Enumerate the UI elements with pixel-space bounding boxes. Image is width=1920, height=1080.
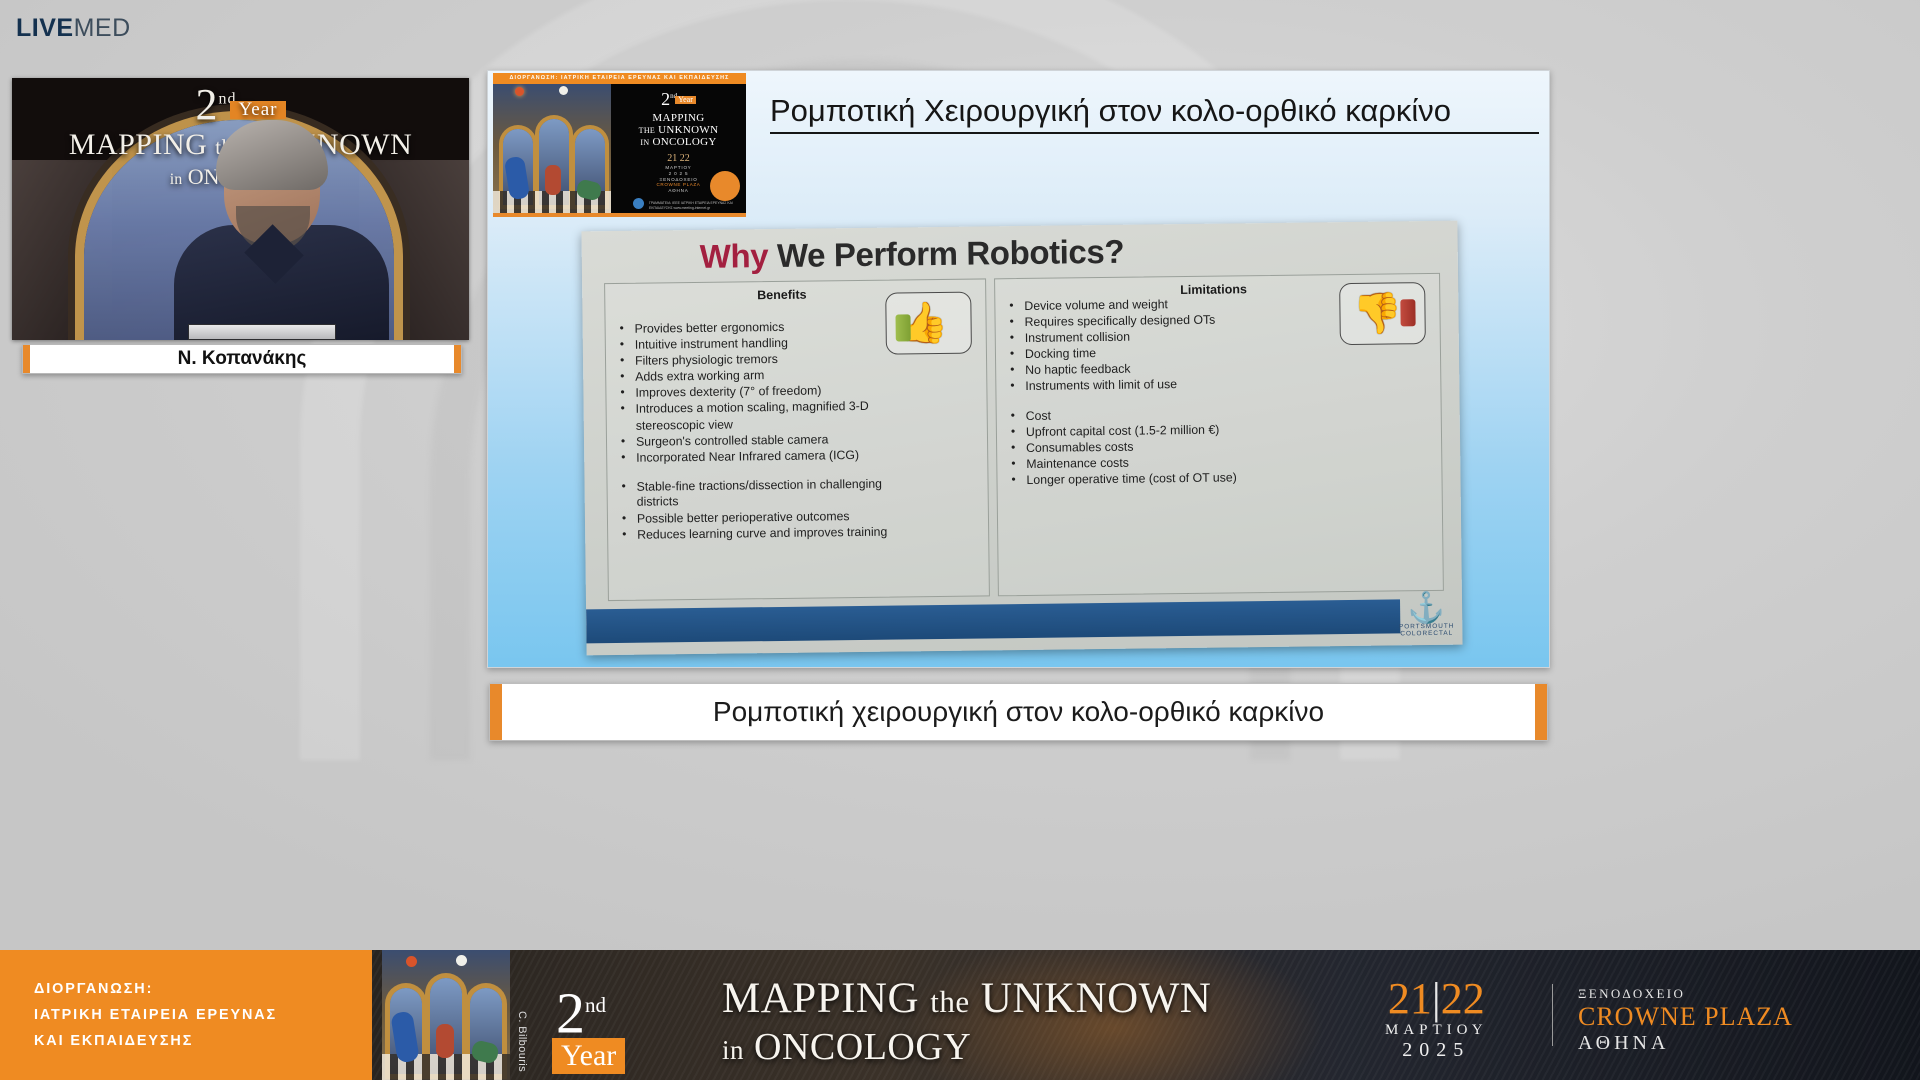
poster-line2: THE UNKNOWN: [611, 124, 746, 136]
portsmouth-colorectal-logo: ⚓ PORTSMOUTH COLORECTAL: [1399, 595, 1455, 638]
poster-organizer-bar: ΔΙΟΡΓΑΝΩΣΗ: ΙΑΤΡΙΚΗ ΕΤΑΙΡΕΙΑ ΕΡΕΥΝΑΣ ΚΑΙ…: [493, 73, 746, 84]
benefits-column: Benefits 👍 Provides better ergonomics In…: [604, 278, 990, 601]
speaker-name-plate: Ν. Κοπανάκης: [22, 344, 462, 374]
banner-year-badge: Year: [552, 1038, 625, 1074]
poster-figure-2: [545, 165, 561, 195]
portsmouth-logo-line2: COLORECTAL: [1399, 630, 1454, 638]
poster-artwork: [493, 84, 611, 213]
portsmouth-logo-mark: ⚓: [1399, 595, 1455, 624]
poster-the: THE: [639, 126, 655, 135]
banner-ordinal: 2nd: [556, 980, 625, 1038]
photo-footer-bar: [586, 599, 1400, 643]
poster-oncology: ONCOLOGY: [652, 136, 716, 148]
photographed-slide: Why We Perform Robotics? Benefits 👍 Prov…: [581, 221, 1462, 656]
banner-year: 2025: [1385, 1039, 1488, 1062]
banner-venue-name: CROWNE PLAZA: [1578, 1002, 1793, 1032]
banner-figure-2: [436, 1024, 454, 1058]
logo-live: LIVE: [16, 14, 74, 42]
presentation-slide[interactable]: ΔΙΟΡΓΑΝΩΣΗ: ΙΑΤΡΙΚΗ ΕΤΑΙΡΕΙΑ ΕΡΕΥΝΑΣ ΚΑΙ…: [487, 70, 1550, 668]
banner-oncology: ONCOLOGY: [754, 1026, 971, 1068]
poster-text-block: 2ndYear MAPPING THE UNKNOWN IN ONCOLOGY …: [611, 84, 746, 213]
banner-day2: 22: [1441, 974, 1485, 1023]
conference-poster-thumbnail: ΔΙΟΡΓΑΝΩΣΗ: ΙΑΤΡΙΚΗ ΕΤΑΙΡΕΙΑ ΕΡΕΥΝΑΣ ΚΑΙ…: [493, 73, 746, 217]
backdrop-ordinal: 2ndYear: [12, 84, 469, 126]
livemed-logo: LIVEMED: [16, 14, 131, 43]
speaker-name: Ν. Κοπανάκης: [178, 348, 307, 370]
banner-in: in: [722, 1035, 744, 1065]
organizer-line2: ΙΑΤΡΙΚΗ ΕΤΑΙΡΕΙΑ ΕΡΕΥΝΑΣ: [34, 1002, 372, 1028]
poster-in: IN: [640, 138, 649, 147]
photo-heading-why: Why: [700, 237, 769, 275]
poster-ordinal: 2ndYear: [611, 90, 746, 108]
speaker-video-panel[interactable]: 2ndYear MAPPING the UNKNOWN in ONCOLOGY: [12, 78, 469, 340]
poster-body: 2ndYear MAPPING THE UNKNOWN IN ONCOLOGY …: [493, 84, 746, 213]
backdrop-year-badge: Year: [230, 101, 285, 119]
banner-title-line1: MAPPING the UNKNOWN: [722, 976, 1211, 1025]
session-caption-bar: Ρομποτική χειρουργική στον κολο-ορθικό κ…: [489, 683, 1548, 741]
banner-moon-icon: [456, 955, 467, 966]
podium-laptop: [188, 324, 336, 340]
artwork-credit: C. Bilbouris: [516, 1011, 528, 1072]
benefits-list-secondary: Stable-fine tractions/dissection in chal…: [619, 476, 910, 543]
poster-day2: 22: [680, 153, 690, 164]
thumbs-down-cuff: [1400, 299, 1415, 326]
speaker-hair: [216, 120, 328, 190]
banner-venue-city: ΑΘΗΝΑ: [1578, 1032, 1793, 1055]
banner-ordinal-number: 2: [556, 980, 585, 1045]
poster-unknown: UNKNOWN: [658, 124, 718, 136]
logo-med: MED: [74, 14, 131, 42]
organizer-block: ΔΙΟΡΓΑΝΩΣΗ: ΙΑΤΡΙΚΗ ΕΤΑΙΡΕΙΑ ΕΡΕΥΝΑΣ ΚΑΙ…: [0, 950, 372, 1080]
poster-month: ΜΑΡΤΙΟΥ: [611, 165, 746, 170]
poster-day1: 21: [667, 153, 677, 164]
banner-sun-icon: [406, 956, 417, 967]
banner-venue-block: ΞΕΝΟΔΟΧΕΙΟ CROWNE PLAZA ΑΘΗΝΑ: [1578, 986, 1793, 1055]
organizer-line1: ΔΙΟΡΓΑΝΩΣΗ:: [34, 976, 372, 1002]
speaker-figure: [174, 130, 389, 340]
poster-sun-icon: [515, 87, 524, 96]
banner-day1: 21: [1388, 974, 1432, 1023]
benefits-list-wrap: Provides better ergonomics Intuitive ins…: [618, 318, 911, 543]
poster-line3: IN ONCOLOGY: [611, 136, 746, 148]
slide-title: Ρομποτική Χειρουργική στον κολο-ορθικό κ…: [770, 93, 1539, 134]
banner-mapping: MAPPING: [722, 975, 919, 1022]
poster-moon-icon: [559, 86, 568, 95]
limitations-list: Device volume and weight Requires specif…: [1007, 296, 1308, 396]
banner-artwork: [382, 950, 510, 1080]
banner-title-line2: in ONCOLOGY: [722, 1025, 1211, 1072]
poster-seal-badge: [710, 171, 740, 201]
benefit-item: Stable-fine tractions/dissection in chal…: [619, 476, 909, 511]
banner-day-separator: |: [1432, 974, 1441, 1023]
poster-year-badge: Year: [675, 96, 696, 104]
photo-heading-rest: We Perform Robotics?: [777, 233, 1125, 274]
backdrop-ordinal-number: 2: [195, 80, 218, 129]
limitations-list-secondary: Cost Upfront capital cost (1.5-2 million…: [1009, 405, 1310, 489]
session-caption-text: Ρομποτική χειρουργική στον κολο-ορθικό κ…: [713, 696, 1324, 728]
poster-dates: 21 22: [611, 153, 746, 164]
banner-days: 21|22: [1385, 978, 1488, 1020]
banner-the: the: [930, 984, 969, 1019]
benefits-list: Provides better ergonomics Intuitive ins…: [618, 318, 910, 466]
banner-month: ΜΑΡΤΙΟΥ: [1385, 1022, 1488, 1039]
poster-globe-icon: [633, 198, 644, 209]
limitation-item: Longer operative time (cost of OT use): [1009, 469, 1309, 488]
limitations-list-wrap: Device volume and weight Requires specif…: [1007, 296, 1309, 490]
limitations-column: Limitations 👎 Device volume and weight R…: [994, 273, 1444, 596]
bottom-banner: ΔΙΟΡΓΑΝΩΣΗ: ΙΑΤΡΙΚΗ ΕΤΑΙΡΕΙΑ ΕΡΕΥΝΑΣ ΚΑΙ…: [0, 950, 1920, 1080]
thumbs-down-icon-box: 👎: [1339, 282, 1426, 345]
banner-date-block: 21|22 ΜΑΡΤΙΟΥ 2025: [1385, 978, 1488, 1062]
speaker-video[interactable]: 2ndYear MAPPING the UNKNOWN in ONCOLOGY: [12, 78, 469, 340]
banner-divider: [1552, 984, 1553, 1046]
banner-venue-label: ΞΕΝΟΔΟΧΕΙΟ: [1578, 986, 1793, 1002]
banner-ordinal-suffix: nd: [585, 993, 606, 1017]
poster-footer-text: ΓΡΑΜΜΑΤΕΙΑ: ΙΕΕΕ ΙΑΤΡΙΚΗ ΕΤΑΙΡΕΙΑ ΕΡΕΥΝΑ…: [649, 201, 746, 211]
organizer-line3: ΚΑΙ ΕΚΠΑΙΔΕΥΣΗΣ: [34, 1028, 372, 1054]
thumbs-down-icon: 👎: [1352, 291, 1402, 336]
banner-event-title: MAPPING the UNKNOWN in ONCOLOGY: [722, 976, 1211, 1072]
poster-ordinal-number: 2: [661, 89, 670, 109]
banner-ordinal-block: 2nd Year: [556, 980, 625, 1074]
photo-heading: Why We Perform Robotics?: [700, 233, 1125, 276]
benefit-item: Reduces learning curve and improves trai…: [620, 524, 910, 543]
banner-unknown: UNKNOWN: [981, 975, 1211, 1022]
poster-line1: MAPPING: [611, 112, 746, 124]
